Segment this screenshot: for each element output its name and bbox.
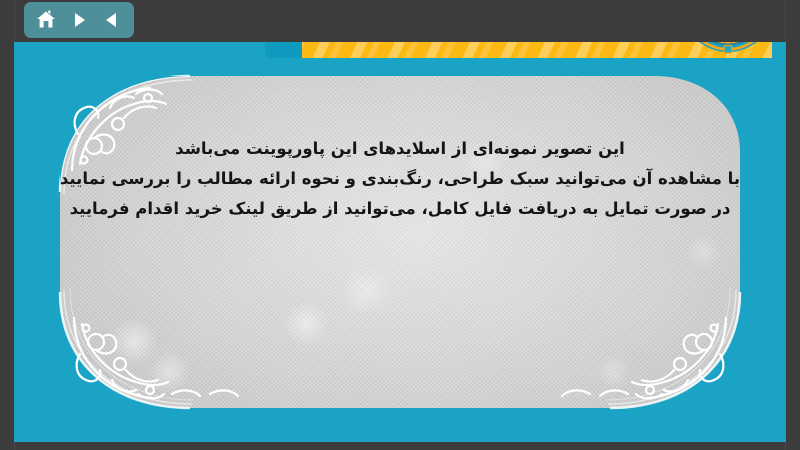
body-line-1: این تصویر نمونه‌ای از اسلایدهای این پاور… [44,134,756,164]
home-icon [35,9,57,31]
triangle-right-icon [69,10,89,30]
forward-button[interactable] [66,7,92,33]
home-button[interactable] [33,7,59,33]
navigation-toolbar [24,2,134,38]
slide-canvas: کامل بررسی معماری پیشنهاد KAMJZ برای حفظ… [14,42,786,442]
body-line-3: در صورت تمایل به دریافت فایل کامل، می‌تو… [44,194,756,224]
slide-background [14,42,786,442]
slide-viewer: کامل بررسی معماری پیشنهاد KAMJZ برای حفظ… [0,0,800,450]
triangle-left-icon [102,10,122,30]
back-button[interactable] [99,7,125,33]
body-line-2: با مشاهده آن می‌توانید سبک طراحی، رنگ‌بن… [44,164,756,194]
slide-body-text: این تصویر نمونه‌ای از اسلایدهای این پاور… [44,134,756,224]
